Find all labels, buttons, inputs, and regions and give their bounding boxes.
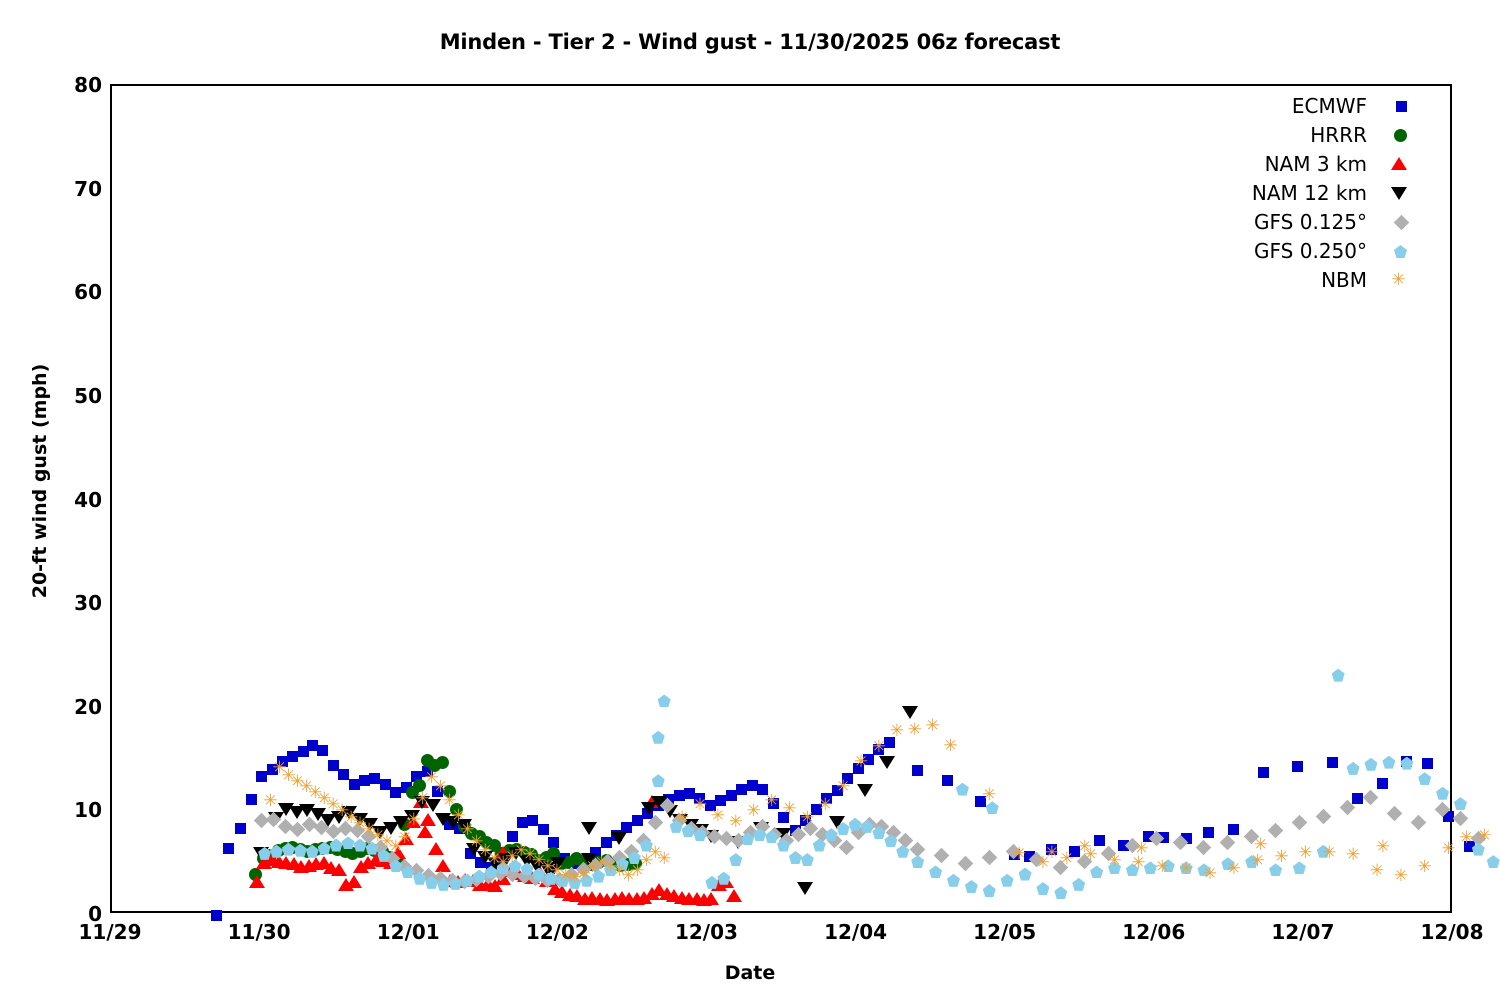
data-point-nam-3-km <box>607 892 623 905</box>
data-point-nbm: ✳ <box>548 863 565 880</box>
data-point-nbm: ✳ <box>602 859 619 876</box>
data-point-gfs-0-250 <box>849 818 862 831</box>
data-point-gfs-0-250 <box>389 859 402 872</box>
data-point-nbm: ✳ <box>1178 861 1195 878</box>
data-point-gfs-0-125 <box>385 851 401 867</box>
data-point-nbm: ✳ <box>584 859 601 876</box>
legend-item-nam-12-km[interactable]: NAM 12 km <box>1150 179 1415 208</box>
data-point-nbm: ✳ <box>477 843 494 860</box>
data-point-hrrr <box>324 841 337 854</box>
legend-marker-triangle-down-icon <box>1391 187 1407 200</box>
data-point-hrrr <box>510 843 523 856</box>
data-point-gfs-0-125 <box>1471 831 1487 847</box>
data-point-ecmwf <box>1228 824 1239 835</box>
data-point-nam-3-km <box>659 887 675 900</box>
data-point-nbm: ✳ <box>1416 859 1433 876</box>
legend-item-nam-3-km[interactable]: NAM 3 km <box>1150 150 1415 179</box>
data-point-nbm: ✳ <box>271 760 288 777</box>
data-point-nbm: ✳ <box>1154 859 1171 876</box>
data-point-nam-3-km <box>539 874 555 887</box>
data-point-nam-3-km <box>360 856 376 869</box>
legend-item-ecmwf[interactable]: ECMWF <box>1150 92 1415 121</box>
legend-label: NBM <box>1321 266 1367 295</box>
data-point-nam-12-km <box>753 822 769 835</box>
data-point-gfs-0-250 <box>872 826 885 839</box>
data-point-gfs-0-250 <box>765 830 778 843</box>
data-point-gfs-0-250 <box>1418 772 1431 785</box>
data-point-nam-3-km <box>510 867 526 880</box>
data-point-gfs-0-125 <box>755 819 771 835</box>
data-point-ecmwf <box>496 855 507 866</box>
data-point-nam-3-km <box>256 856 272 869</box>
data-point-hrrr <box>473 830 486 843</box>
data-point-nam-12-km <box>693 824 709 837</box>
data-point-nbm: ✳ <box>557 868 574 885</box>
data-point-nbm: ✳ <box>441 793 458 810</box>
data-point-nam-3-km <box>726 889 742 902</box>
data-point-gfs-0-250 <box>1036 882 1049 895</box>
data-point-gfs-0-125 <box>1125 837 1141 853</box>
data-point-gfs-0-250 <box>568 876 581 889</box>
data-point-gfs-0-250 <box>983 884 996 897</box>
data-point-nam-3-km <box>718 875 734 888</box>
data-point-nam-12-km <box>331 811 347 824</box>
data-point-nam-12-km <box>310 808 326 821</box>
data-point-gfs-0-250 <box>884 834 897 847</box>
data-point-nam-3-km <box>323 861 339 874</box>
data-point-ecmwf <box>1009 849 1020 860</box>
data-point-nam-12-km <box>383 822 399 835</box>
data-point-gfs-0-125 <box>1387 806 1403 822</box>
data-point-ecmwf <box>287 751 298 762</box>
data-point-nam-12-km <box>829 816 845 829</box>
x-tick-label: 12/03 <box>636 920 776 944</box>
data-point-ecmwf <box>548 837 559 848</box>
data-point-gfs-0-125 <box>636 833 652 849</box>
data-point-gfs-0-125 <box>1148 831 1164 847</box>
data-point-nbm: ✳ <box>352 816 369 833</box>
data-point-ecmwf <box>349 779 360 790</box>
data-point-gfs-0-250 <box>729 853 742 866</box>
data-point-gfs-0-125 <box>981 850 997 866</box>
data-point-ecmwf <box>747 780 758 791</box>
data-point-nbm: ✳ <box>981 787 998 804</box>
data-point-gfs-0-250 <box>947 874 960 887</box>
data-point-nam-3-km <box>666 889 682 902</box>
data-point-gfs-0-125 <box>409 863 425 879</box>
data-point-ecmwf <box>307 740 318 751</box>
x-tick-label: 11/29 <box>40 920 180 944</box>
data-point-gfs-0-250 <box>497 861 510 874</box>
data-point-gfs-0-250 <box>1162 859 1175 872</box>
data-point-nam-12-km <box>320 814 336 827</box>
data-point-gfs-0-125 <box>469 871 485 887</box>
data-point-nam-3-km <box>651 883 667 896</box>
data-point-ecmwf <box>821 793 832 804</box>
data-point-nbm: ✳ <box>870 739 887 756</box>
data-point-nam-3-km <box>271 855 287 868</box>
data-point-hrrr <box>272 844 285 857</box>
data-point-gfs-0-125 <box>1316 808 1332 824</box>
data-point-nam-3-km <box>286 857 302 870</box>
data-point-gfs-0-125 <box>898 833 914 849</box>
data-point-nam-12-km <box>651 796 667 809</box>
data-point-gfs-0-125 <box>397 859 413 875</box>
data-point-gfs-0-250 <box>330 839 343 852</box>
data-point-nbm: ✳ <box>647 845 664 862</box>
data-point-hrrr <box>264 849 277 862</box>
data-point-nam-3-km <box>532 866 548 879</box>
data-point-gfs-0-125 <box>540 872 556 888</box>
chart-legend: ECMWFHRRRNAM 3 kmNAM 12 kmGFS 0.125°GFS … <box>1150 92 1415 295</box>
legend-marker-triangle-up-icon <box>1391 157 1407 170</box>
data-point-nbm: ✳ <box>942 738 959 755</box>
data-point-nbm: ✳ <box>369 828 386 845</box>
data-point-gfs-0-250 <box>342 836 355 849</box>
data-point-nam-12-km <box>683 819 699 832</box>
data-point-gfs-0-250 <box>294 844 307 857</box>
data-point-nam-3-km <box>264 853 280 866</box>
data-point-ecmwf <box>757 784 768 795</box>
data-point-nbm: ✳ <box>522 847 539 864</box>
data-point-nbm: ✳ <box>1297 845 1314 862</box>
data-point-nbm: ✳ <box>1374 839 1391 856</box>
data-point-gfs-0-125 <box>791 827 807 843</box>
legend-label: NAM 3 km <box>1265 150 1367 179</box>
data-point-gfs-0-125 <box>1196 839 1212 855</box>
data-point-nbm: ✳ <box>289 774 306 791</box>
data-point-nam-3-km <box>487 879 503 892</box>
data-point-hrrr <box>614 859 627 872</box>
data-point-nbm: ✳ <box>1076 839 1093 856</box>
data-point-gfs-0-250 <box>1347 762 1360 775</box>
data-point-nbm: ✳ <box>629 863 646 880</box>
data-point-gfs-0-250 <box>1054 886 1067 899</box>
data-point-nam-3-km <box>696 893 712 906</box>
data-point-gfs-0-125 <box>743 825 759 841</box>
data-point-ecmwf <box>401 782 412 793</box>
data-point-hrrr <box>585 858 598 871</box>
data-point-gfs-0-250 <box>1317 845 1330 858</box>
data-point-gfs-0-250 <box>544 872 557 885</box>
legend-item-gfs-0-250[interactable]: GFS 0.250° <box>1150 237 1415 266</box>
data-point-nbm: ✳ <box>1458 830 1475 847</box>
data-point-gfs-0-250 <box>640 839 653 852</box>
data-point-nam-3-km <box>674 891 690 904</box>
data-point-nam-12-km <box>508 847 524 860</box>
data-point-nam-3-km <box>621 892 637 905</box>
data-point-gfs-0-125 <box>1411 814 1427 830</box>
data-point-nam-12-km <box>672 814 688 827</box>
data-point-gfs-0-250 <box>270 845 283 858</box>
data-point-nbm: ✳ <box>1034 855 1051 872</box>
data-point-hrrr <box>383 851 396 864</box>
data-point-gfs-0-250 <box>401 865 414 878</box>
data-point-gfs-0-250 <box>1400 757 1413 770</box>
data-point-gfs-0-125 <box>1220 835 1236 851</box>
data-point-gfs-0-125 <box>850 825 866 841</box>
data-point-gfs-0-125 <box>421 867 437 883</box>
data-point-gfs-0-250 <box>1108 861 1121 874</box>
data-point-hrrr <box>279 842 292 855</box>
data-point-ecmwf <box>580 856 591 867</box>
data-point-nam-3-km <box>405 815 421 828</box>
data-point-hrrr <box>458 820 471 833</box>
data-point-ecmwf <box>444 819 455 830</box>
data-point-hrrr <box>398 818 411 831</box>
data-point-hrrr <box>331 843 344 856</box>
data-point-nam-3-km <box>495 872 511 885</box>
data-point-gfs-0-125 <box>814 827 830 843</box>
data-point-nbm: ✳ <box>316 791 333 808</box>
data-point-gfs-0-125 <box>254 812 270 828</box>
data-point-ecmwf <box>611 830 622 841</box>
data-point-hrrr <box>443 785 456 798</box>
data-point-gfs-0-125 <box>290 822 306 838</box>
data-point-gfs-0-125 <box>612 850 628 866</box>
legend-item-hrrr[interactable]: HRRR <box>1150 121 1415 150</box>
data-point-ecmwf <box>338 769 349 780</box>
data-point-ecmwf <box>975 796 986 807</box>
data-point-hrrr <box>570 852 583 865</box>
data-point-nam-3-km <box>420 813 436 826</box>
y-tick-label: 70 <box>32 177 102 201</box>
data-point-gfs-0-125 <box>325 824 341 840</box>
data-point-nbm: ✳ <box>396 830 413 847</box>
data-point-nam-12-km <box>581 822 597 835</box>
data-point-gfs-0-250 <box>1126 863 1139 876</box>
data-point-gfs-0-125 <box>337 821 353 837</box>
data-point-nam-3-km <box>249 875 265 888</box>
data-point-nam-3-km <box>465 874 481 887</box>
data-point-gfs-0-125 <box>1244 829 1260 845</box>
x-tick-label: 11/30 <box>189 920 329 944</box>
data-point-hrrr <box>391 855 404 868</box>
data-point-gfs-0-250 <box>556 874 569 887</box>
data-point-gfs-0-250 <box>1472 843 1485 856</box>
data-point-hrrr <box>406 786 419 799</box>
data-point-gfs-0-250 <box>485 865 498 878</box>
data-point-gfs-0-125 <box>1268 823 1284 839</box>
data-point-nam-3-km <box>278 856 294 869</box>
data-point-hrrr <box>488 839 501 852</box>
data-point-ecmwf <box>1143 831 1154 842</box>
data-point-nam-3-km <box>517 869 533 882</box>
data-point-gfs-0-125 <box>659 798 675 814</box>
y-tick-label: 20 <box>32 695 102 719</box>
data-point-ecmwf <box>768 798 779 809</box>
data-point-nam-12-km <box>544 865 560 878</box>
data-point-nam-12-km <box>414 796 430 809</box>
legend-marker-asterisk-icon: ✳ <box>1390 272 1407 289</box>
data-point-hrrr <box>286 841 299 854</box>
data-point-nbm: ✳ <box>405 812 422 829</box>
data-point-gfs-0-125 <box>1053 860 1069 876</box>
data-point-nam-3-km <box>636 891 652 904</box>
data-point-gfs-0-250 <box>717 872 730 885</box>
data-point-nam-3-km <box>417 825 433 838</box>
data-point-nam-3-km <box>383 856 399 869</box>
data-point-gfs-0-250 <box>1221 857 1234 870</box>
data-point-nam-3-km <box>480 877 496 890</box>
data-point-nam-3-km <box>569 889 585 902</box>
data-point-ecmwf <box>663 794 674 805</box>
legend-marker-square-icon <box>1396 101 1407 112</box>
data-point-hrrr <box>503 844 516 857</box>
data-point-ecmwf <box>863 754 874 765</box>
data-point-nam-3-km <box>435 859 451 872</box>
data-point-hrrr <box>518 846 531 859</box>
data-point-nbm: ✳ <box>817 797 834 814</box>
data-point-nam-12-km <box>611 832 627 845</box>
data-point-nam-12-km <box>730 836 746 849</box>
data-point-nbm: ✳ <box>1201 866 1218 883</box>
data-point-gfs-0-125 <box>492 865 508 881</box>
data-point-gfs-0-125 <box>528 870 544 886</box>
data-point-ecmwf <box>527 815 538 826</box>
data-point-nam-3-km <box>554 885 570 898</box>
legend-item-nbm[interactable]: NBM✳ <box>1150 266 1415 295</box>
data-point-hrrr <box>592 856 605 869</box>
data-point-ecmwf <box>674 790 685 801</box>
data-point-gfs-0-125 <box>1339 800 1355 816</box>
data-point-hrrr <box>421 754 434 767</box>
data-point-nam-3-km <box>331 863 347 876</box>
data-point-ecmwf <box>912 765 923 776</box>
data-point-ecmwf <box>873 744 884 755</box>
x-tick-label: 12/08 <box>1382 920 1500 944</box>
data-point-nam-12-km <box>879 756 895 769</box>
data-point-nbm: ✳ <box>656 851 673 868</box>
data-point-nam-3-km <box>703 892 719 905</box>
data-point-ecmwf <box>705 800 716 811</box>
data-point-ecmwf <box>369 773 380 784</box>
data-point-gfs-0-250 <box>437 878 450 891</box>
data-point-ecmwf <box>390 787 401 798</box>
data-point-hrrr <box>316 842 329 855</box>
data-point-gfs-0-250 <box>377 849 390 862</box>
data-point-nam-3-km <box>502 864 518 877</box>
data-point-nam-12-km <box>902 706 918 719</box>
data-point-nbm: ✳ <box>325 797 342 814</box>
data-point-nbm: ✳ <box>486 851 503 868</box>
legend-marker-diamond-icon <box>1394 215 1410 231</box>
data-point-gfs-0-125 <box>1292 814 1308 830</box>
data-point-nbm: ✳ <box>468 834 485 851</box>
data-point-nam-3-km <box>711 878 727 891</box>
data-point-nam-12-km <box>289 806 305 819</box>
data-point-gfs-0-250 <box>413 872 426 885</box>
data-point-ecmwf <box>1024 851 1035 862</box>
data-point-ecmwf <box>853 763 864 774</box>
legend-marker-circle-icon <box>1394 129 1407 142</box>
data-point-ecmwf <box>475 857 486 868</box>
data-point-nbm: ✳ <box>1130 855 1147 872</box>
data-point-nam-12-km <box>299 804 315 817</box>
legend-item-gfs-0-125[interactable]: GFS 0.125° <box>1150 208 1415 237</box>
data-point-hrrr <box>555 857 568 870</box>
data-point-gfs-0-250 <box>825 828 838 841</box>
data-point-nbm: ✳ <box>763 793 780 810</box>
data-point-gfs-0-250 <box>777 839 790 852</box>
data-point-gfs-0-250 <box>813 839 826 852</box>
data-point-gfs-0-250 <box>616 857 629 870</box>
x-tick-label: 12/05 <box>935 920 1075 944</box>
data-point-hrrr <box>346 847 359 860</box>
data-point-nbm: ✳ <box>575 866 592 883</box>
data-point-ecmwf <box>1203 827 1214 838</box>
data-point-gfs-0-250 <box>461 874 474 887</box>
data-point-gfs-0-125 <box>1005 843 1021 859</box>
data-point-ecmwf <box>1352 793 1363 804</box>
data-point-hrrr <box>450 803 463 816</box>
data-point-nbm: ✳ <box>1043 845 1060 862</box>
data-point-nam-12-km <box>487 857 503 870</box>
data-point-nam-3-km <box>495 846 511 859</box>
data-point-nbm: ✳ <box>307 785 324 802</box>
data-point-gfs-0-250 <box>1436 787 1449 800</box>
data-point-ecmwf <box>1069 846 1080 857</box>
legend-label: NAM 12 km <box>1252 179 1367 208</box>
data-point-gfs-0-125 <box>1363 790 1379 806</box>
data-point-gfs-0-250 <box>1382 756 1395 769</box>
data-point-ecmwf <box>621 822 632 833</box>
data-point-nam-3-km <box>338 878 354 891</box>
data-point-gfs-0-125 <box>576 862 592 878</box>
legend-label: HRRR <box>1310 121 1367 150</box>
data-point-ecmwf <box>559 853 570 864</box>
data-point-gfs-0-250 <box>449 877 462 890</box>
data-point-nbm: ✳ <box>799 810 816 827</box>
data-point-hrrr <box>339 845 352 858</box>
data-point-gfs-0-250 <box>1245 855 1258 868</box>
data-point-nam-12-km <box>519 855 535 868</box>
data-point-gfs-0-250 <box>658 694 671 707</box>
data-point-gfs-0-125 <box>862 817 878 833</box>
data-point-gfs-0-125 <box>588 858 604 874</box>
data-point-ecmwf <box>380 779 391 790</box>
data-point-ecmwf <box>277 756 288 767</box>
data-point-gfs-0-125 <box>266 811 282 827</box>
data-point-nam-3-km <box>614 891 630 904</box>
data-point-gfs-0-250 <box>425 876 438 889</box>
data-point-gfs-0-250 <box>861 820 874 833</box>
data-point-nbm: ✳ <box>459 822 476 839</box>
data-point-ecmwf <box>790 825 801 836</box>
data-point-gfs-0-250 <box>1454 797 1467 810</box>
x-tick-label: 12/02 <box>487 920 627 944</box>
data-point-gfs-0-125 <box>934 848 950 864</box>
data-point-nam-12-km <box>278 803 294 816</box>
data-point-ecmwf <box>715 795 726 806</box>
data-point-gfs-0-125 <box>480 868 496 884</box>
data-point-ecmwf <box>1292 761 1303 772</box>
data-point-nbm: ✳ <box>280 768 297 785</box>
data-point-nam-12-km <box>456 819 472 832</box>
data-point-ecmwf <box>246 794 257 805</box>
data-point-gfs-0-250 <box>473 870 486 883</box>
data-point-gfs-0-250 <box>670 820 683 833</box>
data-point-ecmwf <box>1422 758 1433 769</box>
data-point-ecmwf <box>726 790 737 801</box>
data-point-ecmwf <box>569 858 580 869</box>
data-point-ecmwf <box>328 760 339 771</box>
data-point-gfs-0-125 <box>874 819 890 835</box>
data-point-ecmwf <box>465 848 476 859</box>
data-point-nam-3-km <box>398 832 414 845</box>
data-point-ecmwf <box>1464 841 1475 852</box>
data-point-gfs-0-250 <box>1364 758 1377 771</box>
